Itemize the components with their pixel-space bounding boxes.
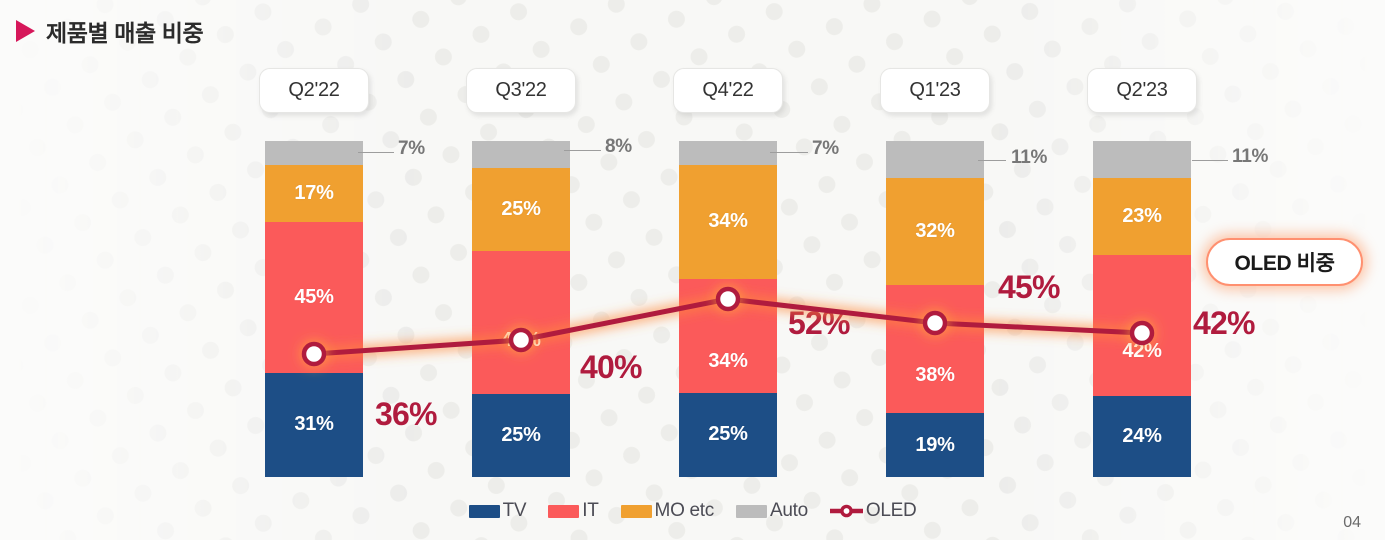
bar-segment-value: 25% — [708, 423, 747, 446]
quarter-label-text: Q4'22 — [702, 79, 753, 102]
bar-segment-tv: 25% — [679, 393, 777, 477]
legend-item-it[interactable]: IT — [548, 500, 598, 522]
auto-share-value: 11% — [1232, 146, 1268, 168]
legend-line-marker-icon — [830, 504, 863, 518]
page-number: 04 — [1343, 514, 1361, 532]
bar-segment-value: 19% — [915, 434, 954, 457]
oled-share-value: 52% — [788, 305, 850, 342]
auto-share-value: 8% — [605, 136, 632, 158]
stacked-bar-chart: Q2'22Q3'22Q4'22Q1'23Q2'237%17%45%31%8%25… — [0, 0, 1385, 540]
oled-share-value: 45% — [998, 269, 1060, 306]
auto-leader-line — [358, 152, 394, 153]
legend-item-mo-etc[interactable]: MO etc — [621, 500, 714, 522]
auto-share-value: 7% — [812, 138, 839, 160]
bar-segment-it: 45% — [265, 222, 363, 373]
quarter-label-text: Q3'22 — [495, 79, 546, 102]
bar-segment-value: 43% — [501, 329, 540, 352]
oled-share-callout-label: OLED 비중 — [1234, 247, 1334, 277]
page-title: 제품별 매출 비중 — [46, 14, 203, 48]
auto-share-value: 11% — [1011, 147, 1047, 169]
quarter-label-text: Q2'23 — [1116, 79, 1167, 102]
auto-leader-line — [978, 160, 1006, 161]
bar-segment-it: 42% — [1093, 255, 1191, 396]
triangle-bullet-icon — [16, 20, 35, 42]
bar-segment-auto: 11% — [886, 141, 984, 178]
legend-item-tv[interactable]: TV — [469, 500, 527, 522]
bar-segment-mo-etc: 25% — [472, 168, 570, 251]
quarter-label-text: Q2'22 — [288, 79, 339, 102]
auto-share-value: 7% — [398, 138, 425, 160]
bar-segment-value: 17% — [294, 182, 333, 205]
bar-column: 11%32%38%19% — [886, 141, 984, 477]
bar-segment-auto: 7% — [265, 141, 363, 165]
bar-segment-value: 32% — [915, 220, 954, 243]
bar-segment-mo-etc: 34% — [679, 165, 777, 279]
bar-column: 11%23%42%24% — [1093, 141, 1191, 477]
auto-leader-line — [1192, 160, 1228, 161]
bar-segment-tv: 25% — [472, 394, 570, 477]
legend-label: Auto — [770, 500, 808, 522]
legend-label: MO etc — [655, 500, 714, 522]
bar-segment-auto: 7% — [679, 141, 777, 165]
auto-leader-line — [564, 150, 601, 151]
oled-share-value: 40% — [580, 349, 642, 386]
legend-swatch — [469, 505, 500, 518]
quarter-label-pill: Q2'22 — [259, 68, 369, 113]
bar-segment-tv: 19% — [886, 413, 984, 477]
bar-segment-value: 25% — [501, 424, 540, 447]
bar-column: 8%25%43%25% — [472, 141, 570, 477]
bar-segment-value: 25% — [501, 198, 540, 221]
bar-segment-value: 42% — [1122, 340, 1161, 363]
bar-segment-value: 23% — [1122, 205, 1161, 228]
quarter-label-pill: Q3'22 — [466, 68, 576, 113]
bar-segment-tv: 31% — [265, 373, 363, 477]
quarter-label-pill: Q1'23 — [880, 68, 990, 113]
bar-segment-value: 38% — [915, 364, 954, 387]
legend-label: TV — [503, 500, 527, 522]
chart-legend: TVITMO etcAutoOLED — [0, 500, 1385, 522]
legend-swatch — [736, 505, 767, 518]
bar-segment-value: 34% — [708, 350, 747, 373]
bar-segment-tv: 24% — [1093, 396, 1191, 477]
legend-item-oled[interactable]: OLED — [830, 500, 917, 522]
legend-swatch — [548, 505, 579, 518]
bar-segment-mo-etc: 32% — [886, 178, 984, 286]
quarter-label-pill: Q4'22 — [673, 68, 783, 113]
bar-column: 7%17%45%31% — [265, 141, 363, 477]
bar-segment-value: 34% — [708, 210, 747, 233]
quarter-label-pill: Q2'23 — [1087, 68, 1197, 113]
bar-segment-value: 45% — [294, 286, 333, 309]
bar-segment-it: 34% — [679, 279, 777, 393]
quarter-label-text: Q1'23 — [909, 79, 960, 102]
bar-column: 7%34%34%25% — [679, 141, 777, 477]
legend-swatch — [621, 505, 652, 518]
legend-item-auto[interactable]: Auto — [736, 500, 808, 522]
oled-share-value: 42% — [1193, 305, 1255, 342]
legend-label: IT — [582, 500, 598, 522]
bar-segment-value: 31% — [294, 413, 333, 436]
bar-segment-auto: 11% — [1093, 141, 1191, 178]
bar-segment-it: 38% — [886, 285, 984, 413]
oled-share-callout-bubble: OLED 비중 — [1206, 238, 1363, 286]
legend-label: OLED — [866, 500, 917, 522]
bar-segment-auto: 8% — [472, 141, 570, 168]
bar-segment-mo-etc: 17% — [265, 165, 363, 222]
slide-title-row: 제품별 매출 비중 — [16, 14, 203, 48]
auto-leader-line — [770, 152, 808, 153]
bar-segment-mo-etc: 23% — [1093, 178, 1191, 255]
bar-segment-it: 43% — [472, 251, 570, 394]
oled-share-value: 36% — [375, 396, 437, 433]
bar-segment-value: 24% — [1122, 425, 1161, 448]
